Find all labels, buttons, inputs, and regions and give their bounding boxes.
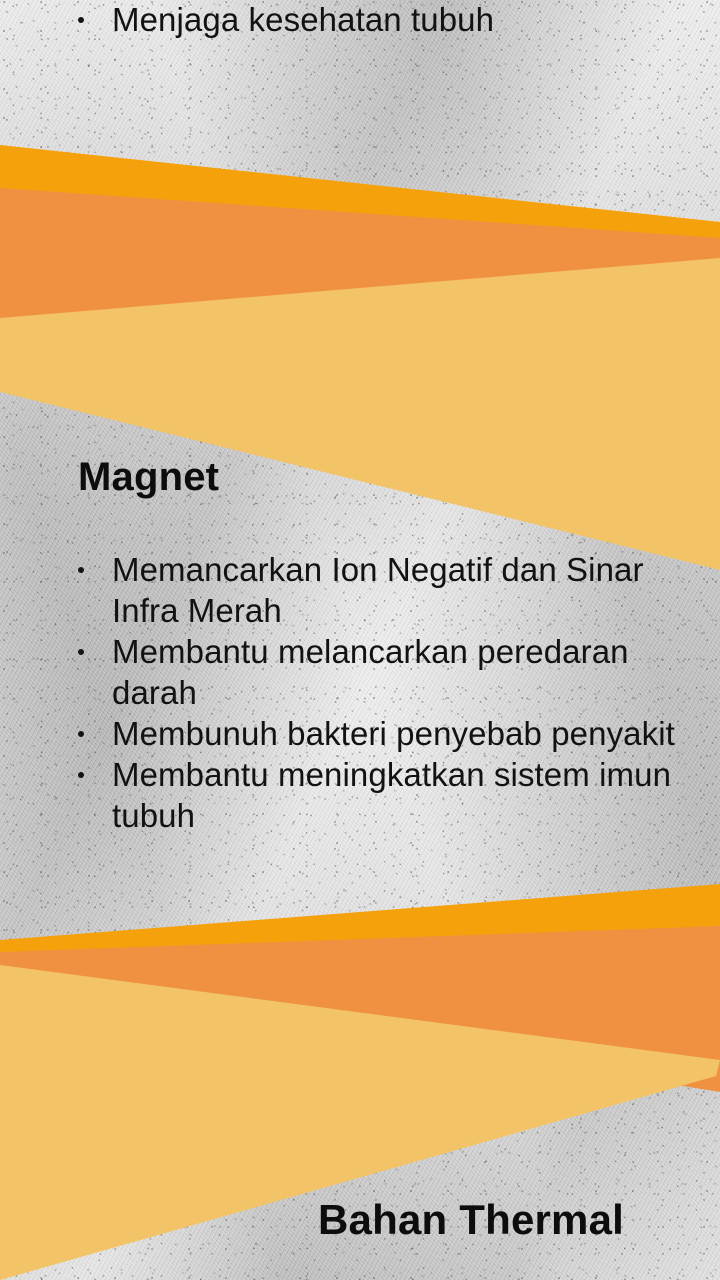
top-bullet-list: tulang pinggul dan tulang belakang Menja…: [68, 0, 668, 40]
section-title-bahan-thermal: Bahan Thermal: [318, 1196, 624, 1244]
list-item: Menjaga kesehatan tubuh: [68, 0, 668, 40]
list-item: Membunuh bakteri penyebab penyakit: [68, 713, 688, 754]
top-bullets: tulang pinggul dan tulang belakang Menja…: [68, 0, 668, 40]
list-item: Memancarkan Ion Negatif dan Sinar Infra …: [68, 549, 688, 631]
section-title-magnet: Magnet: [78, 455, 219, 500]
magnet-bullet-list: Memancarkan Ion Negatif dan Sinar Infra …: [68, 549, 688, 836]
text-layer: tulang pinggul dan tulang belakang Menja…: [0, 0, 720, 1280]
slide-canvas: tulang pinggul dan tulang belakang Menja…: [0, 0, 720, 1280]
list-item: Membantu meningkatkan sistem imun tubuh: [68, 754, 688, 836]
magnet-bullets: Memancarkan Ion Negatif dan Sinar Infra …: [68, 549, 688, 836]
list-item: Membantu melancarkan peredaran darah: [68, 631, 688, 713]
